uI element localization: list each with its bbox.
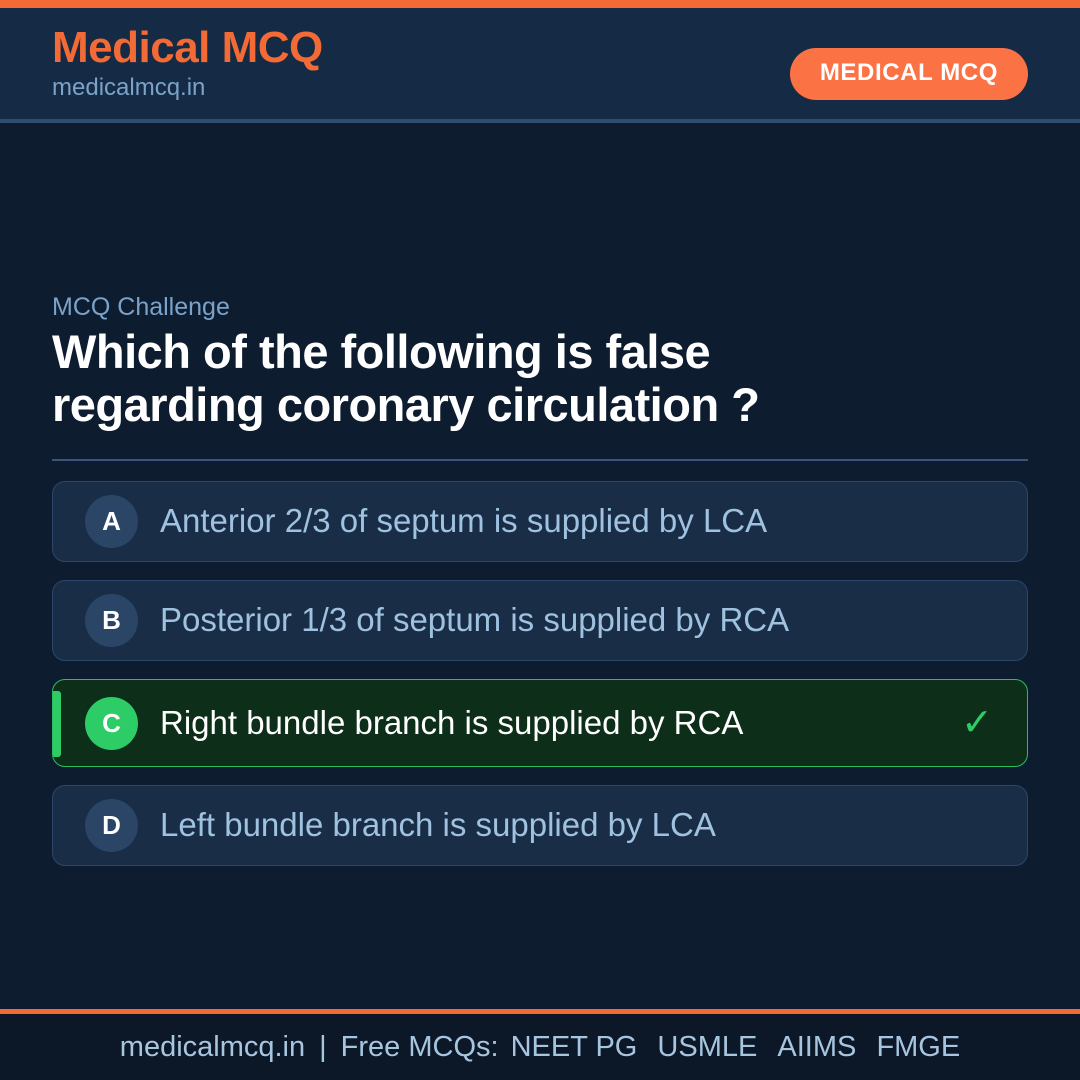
footer-exam-aiims: AIIMS	[765, 1031, 856, 1063]
footer-separator: |	[305, 1031, 341, 1064]
question-line-1: Which of the following is false	[52, 326, 1028, 379]
footer-exam-fmge: FMGE	[864, 1031, 960, 1063]
footer-free-label: Free MCQs:	[341, 1031, 499, 1064]
option-label: Posterior 1/3 of septum is supplied by R…	[160, 602, 1027, 638]
page-header: Medical MCQ medicalmcq.in MEDICAL MCQ	[0, 8, 1080, 122]
footer-exam-list: NEET PG USMLE AIIMS FMGE	[499, 1031, 961, 1064]
footer-exam-usmle: USMLE	[645, 1031, 757, 1063]
brand-title: Medical MCQ	[52, 24, 323, 72]
header-divider	[0, 119, 1080, 123]
correct-accent-bar	[53, 691, 61, 757]
question-line-2: regarding coronary circulation ?	[52, 379, 1028, 432]
option-letter-badge: D	[85, 799, 138, 852]
option-c[interactable]: C Right bundle branch is supplied by RCA…	[52, 679, 1028, 767]
option-a[interactable]: A Anterior 2/3 of septum is supplied by …	[52, 481, 1028, 562]
footer-exam-neet-pg: NEET PG	[499, 1031, 638, 1063]
option-d[interactable]: D Left bundle branch is supplied by LCA …	[52, 785, 1028, 866]
option-label: Anterior 2/3 of septum is supplied by LC…	[160, 503, 1027, 539]
check-icon: ✓	[961, 704, 993, 742]
option-letter-badge: A	[85, 495, 138, 548]
option-letter-badge: B	[85, 594, 138, 647]
options-list: A Anterior 2/3 of septum is supplied by …	[52, 481, 1028, 884]
page-title: Which of the following is false regardin…	[52, 326, 1028, 431]
footer-site: medicalmcq.in	[120, 1031, 305, 1064]
question-block: MCQ Challenge Which of the following is …	[52, 292, 1028, 461]
page-footer: medicalmcq.in | Free MCQs: NEET PG USMLE…	[0, 1014, 1080, 1080]
option-letter-badge: C	[85, 697, 138, 750]
brand-subtitle: medicalmcq.in	[52, 74, 323, 103]
header-badge: MEDICAL MCQ	[790, 48, 1028, 100]
brand-block: Medical MCQ medicalmcq.in	[52, 24, 323, 102]
option-b[interactable]: B Posterior 1/3 of septum is supplied by…	[52, 580, 1028, 661]
eyebrow-label: MCQ Challenge	[52, 292, 1028, 322]
option-label: Right bundle branch is supplied by RCA	[160, 705, 961, 741]
option-label: Left bundle branch is supplied by LCA	[160, 807, 1027, 843]
top-accent-bar	[0, 0, 1080, 8]
title-divider	[52, 459, 1028, 461]
